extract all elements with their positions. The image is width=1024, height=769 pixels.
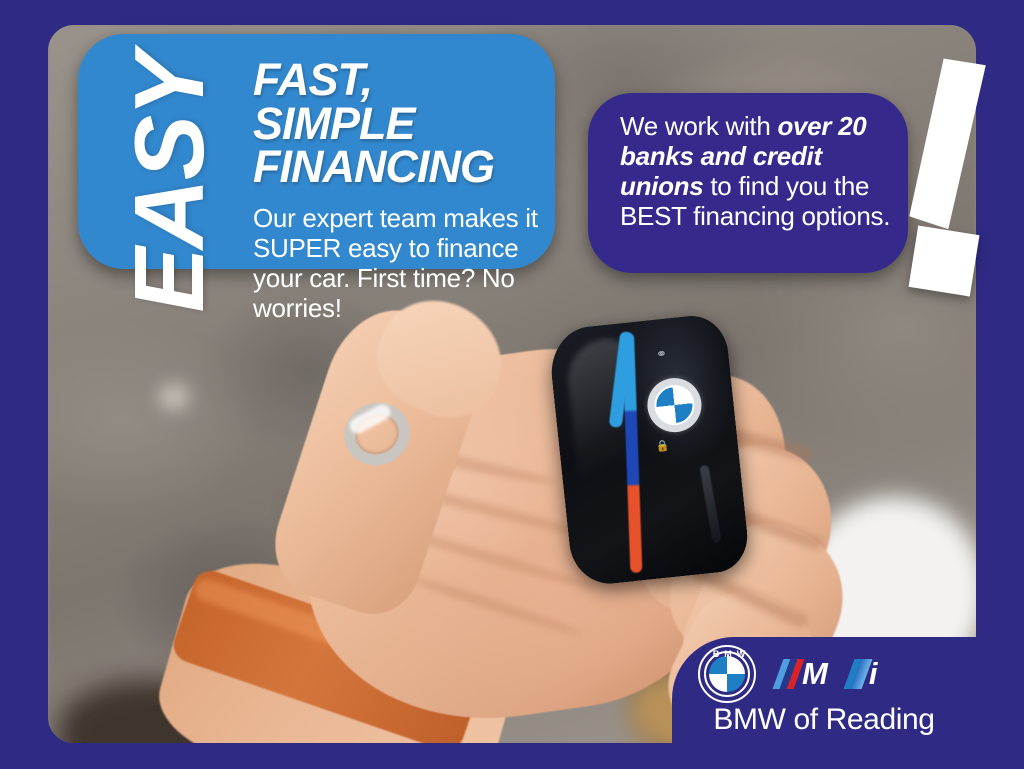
bmw-roundel-icon: BMW — [698, 645, 756, 703]
headline-line-1: FAST, SIMPLE — [253, 58, 543, 145]
unlock-button-icon: ⚭ — [655, 347, 667, 363]
bubble-text-lead: We work with — [620, 111, 777, 141]
bmw-m-logo-icon: M — [778, 659, 827, 689]
easy-vertical-word: EASY — [120, 28, 218, 338]
headline: FAST, SIMPLE FINANCING — [253, 58, 543, 189]
dealer-logo-panel: BMW M i BMW of Reading — [672, 637, 976, 743]
m-letter: M — [802, 659, 827, 689]
roundel-wordmark: BMW — [700, 649, 758, 659]
lock-button-icon: 🔒 — [655, 439, 670, 453]
bubble-text: We work with over 20 banks and credit un… — [620, 111, 892, 232]
headline-body-text: Our expert team makes it SUPER easy to f… — [253, 203, 543, 324]
m-stripes — [773, 659, 805, 689]
headline-line-2: FINANCING — [253, 145, 543, 189]
easy-card-text-block: FAST, SIMPLE FINANCING Our expert team m… — [253, 58, 543, 324]
exclamation-mark-dot-icon — [909, 226, 980, 297]
bmw-i-logo-icon: i — [849, 659, 878, 689]
advertisement-banner: ⚭ 🔒 EASY FAST, SIMPLE FINANCING Our expe… — [0, 0, 1024, 769]
logo-row: BMW M i — [698, 645, 877, 703]
banks-credit-unions-bubble: We work with over 20 banks and credit un… — [588, 93, 908, 273]
roundel-quadrants — [709, 656, 745, 692]
dealer-name: BMW of Reading — [672, 703, 976, 737]
bmw-key-fob: ⚭ 🔒 — [547, 312, 751, 587]
easy-financing-card: EASY FAST, SIMPLE FINANCING Our expert t… — [78, 34, 555, 269]
